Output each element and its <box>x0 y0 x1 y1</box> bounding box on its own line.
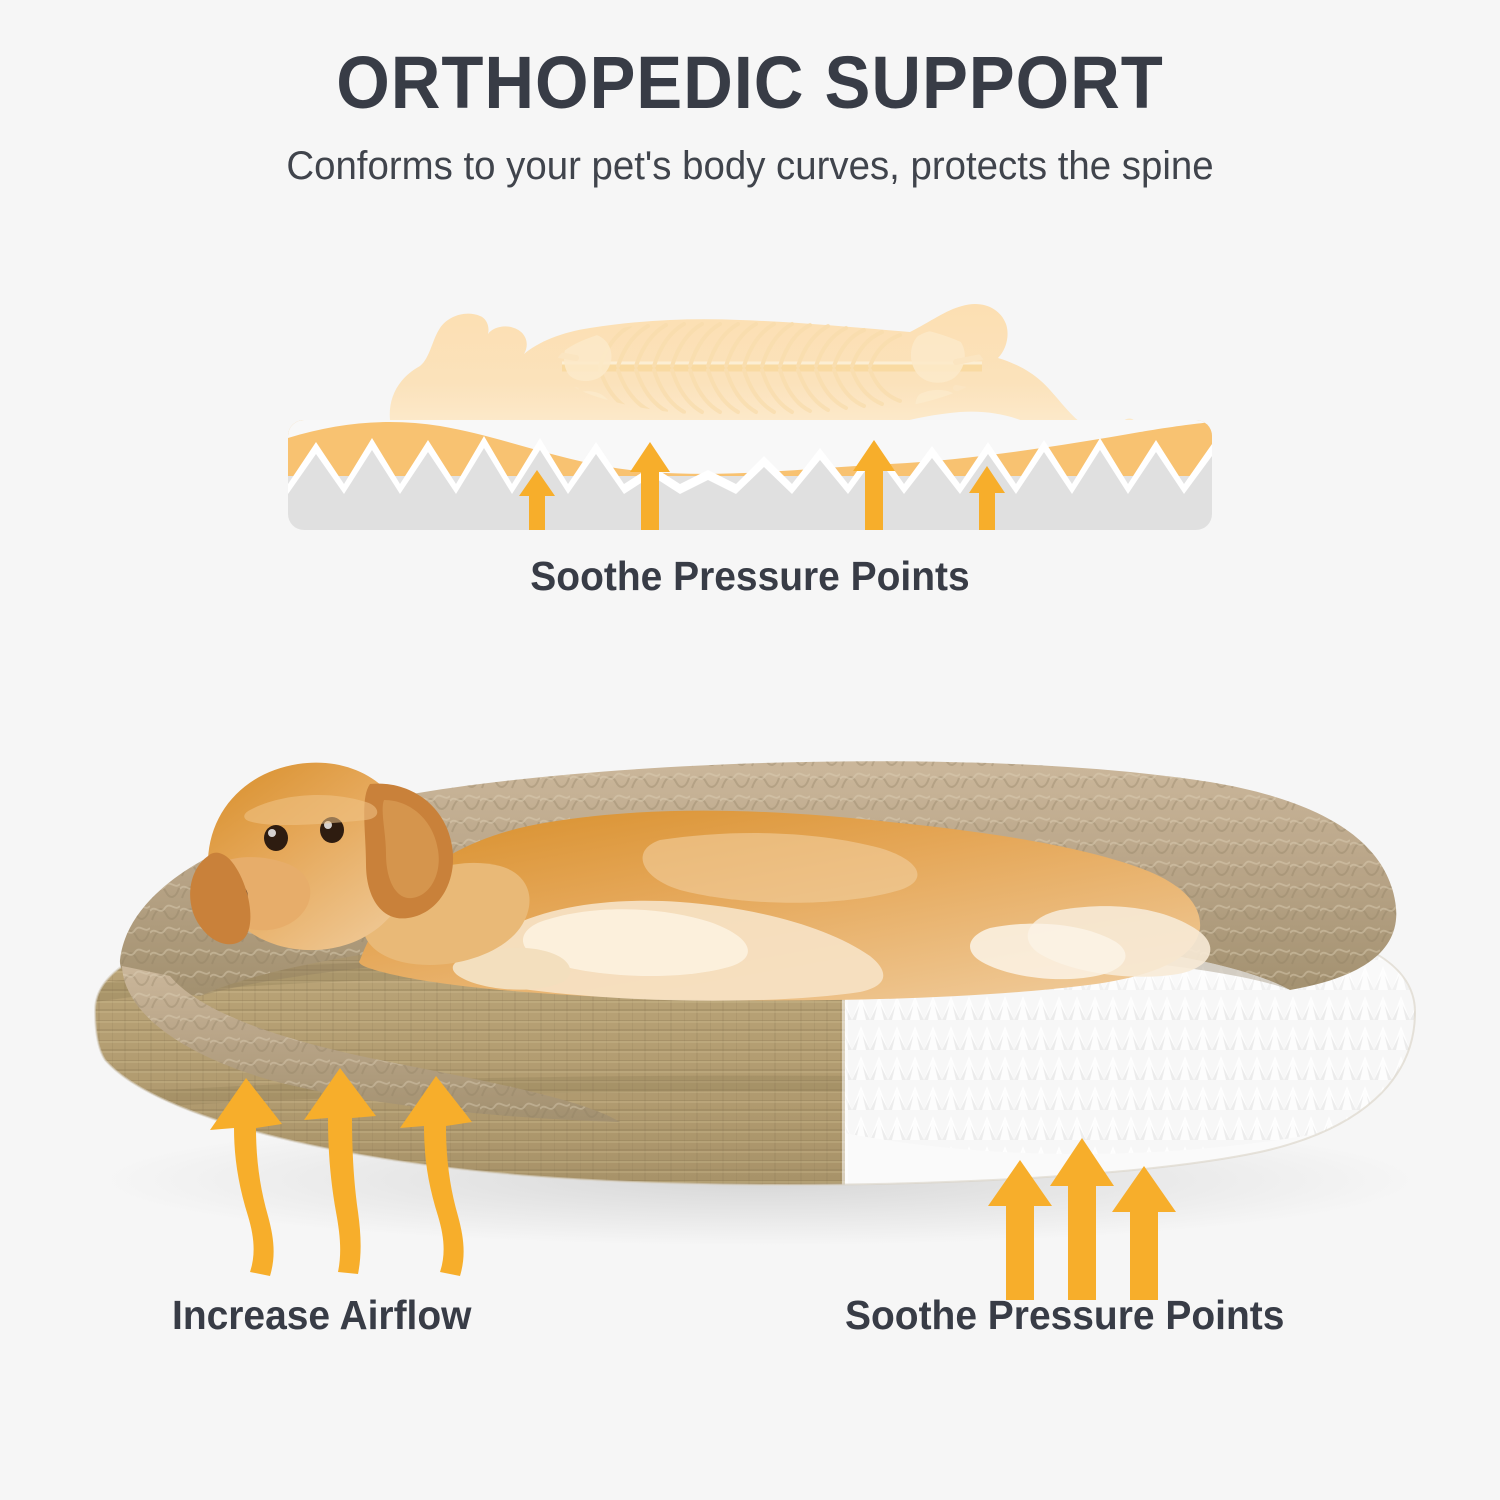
page-title: ORTHOPEDIC SUPPORT <box>53 46 1448 120</box>
foam-block <box>288 420 1212 530</box>
dog-eye <box>264 825 288 851</box>
pressure-points-label: Soothe Pressure Points <box>845 1292 1284 1339</box>
page-subtitle: Conforms to your pet's body curves, prot… <box>30 146 1470 186</box>
airflow-label: Increase Airflow <box>172 1292 471 1339</box>
bottom-label-row: Increase Airflow Soothe Pressure Points <box>0 1292 1500 1348</box>
diagram-caption: Soothe Pressure Points <box>38 553 1463 600</box>
header: ORTHOPEDIC SUPPORT Conforms to your pet'… <box>0 46 1500 186</box>
infographic-root: ORTHOPEDIC SUPPORT Conforms to your pet'… <box>0 0 1500 1500</box>
product-photo <box>60 660 1450 1300</box>
foam-cross-section-diagram <box>270 270 1230 530</box>
airflow-arrow-group <box>210 1068 472 1276</box>
